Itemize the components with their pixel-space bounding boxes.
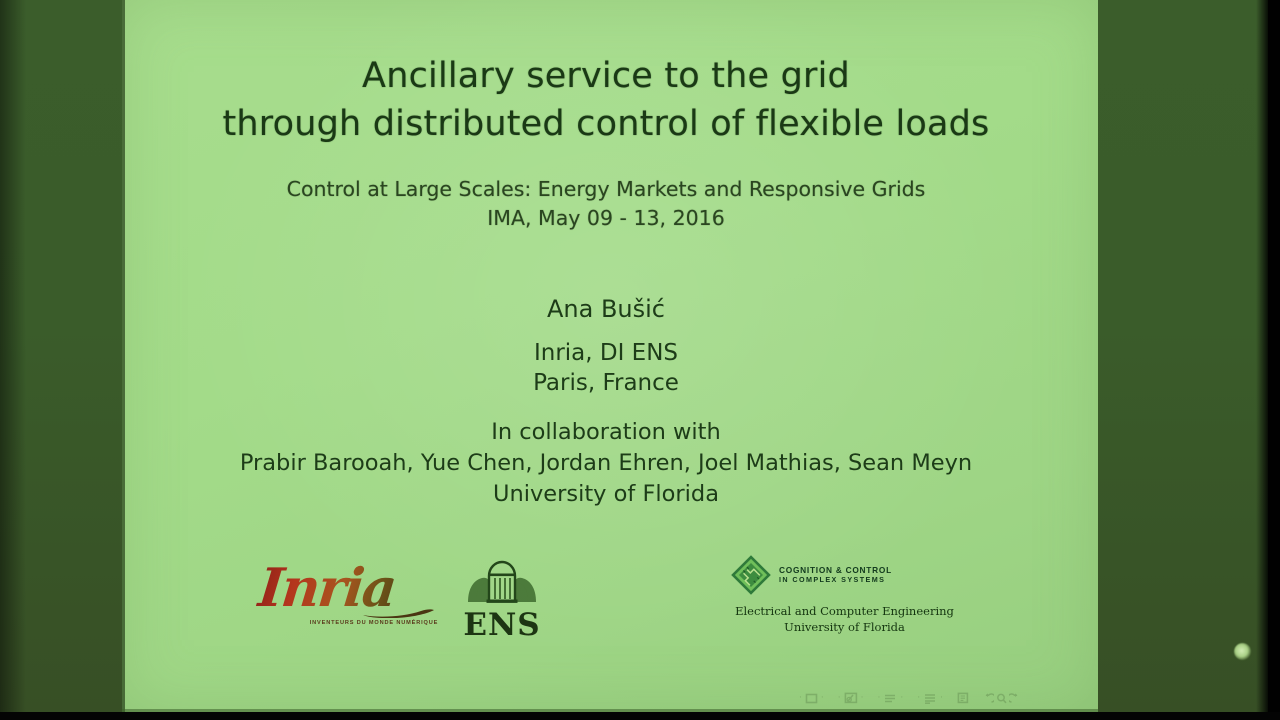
nav-next-section-dot[interactable]: · xyxy=(940,693,943,703)
frame-edge-bottom xyxy=(0,712,1280,720)
collaborator-names: Prabir Barooah, Yue Chen, Jordan Ehren, … xyxy=(122,448,1090,479)
cognition-control-line-1: COGNITION & CONTROL xyxy=(779,565,892,575)
frame-icon[interactable] xyxy=(844,692,858,704)
presentation-icon[interactable] xyxy=(957,692,969,704)
uf-university: University of Florida xyxy=(722,620,967,635)
title-line-2: through distributed control of flexible … xyxy=(122,100,1090,148)
back-icon[interactable] xyxy=(983,693,994,704)
uf-department: Electrical and Computer Engineering xyxy=(722,604,967,619)
frame-edge-right xyxy=(1268,0,1280,720)
nav-group-section[interactable]: · · xyxy=(917,693,943,704)
projector-capture-frame: Ancillary service to the grid through di… xyxy=(0,0,1280,720)
nav-group-frame[interactable]: · · xyxy=(838,692,864,704)
title-line-1: Ancillary service to the grid xyxy=(122,52,1090,100)
collaboration-block: In collaboration with Prabir Barooah, Yu… xyxy=(122,417,1090,510)
inria-logo: Inria INVENTEURS DU MONDE NUMÉRIQUE xyxy=(255,560,437,638)
subsection-icon[interactable] xyxy=(883,693,897,704)
conference-date: IMA, May 09 - 13, 2016 xyxy=(122,204,1090,233)
uf-cognition-control-logo: COGNITION & CONTROL IN COMPLEX SYSTEMS E… xyxy=(722,554,967,650)
nav-prev-section-dot[interactable]: · xyxy=(917,693,920,703)
beamer-navigation-symbols[interactable]: · · · · · xyxy=(799,692,1020,704)
inria-swash-icon xyxy=(363,608,435,618)
nav-prev-subsection-dot[interactable]: · xyxy=(878,693,881,703)
ens-logo: ENS xyxy=(462,558,542,642)
nav-next-subsection-dot[interactable]: · xyxy=(900,693,903,703)
nav-prev-dot[interactable]: · xyxy=(799,693,802,703)
affiliation-block: Inria, DI ENS Paris, France xyxy=(122,338,1090,398)
section-icon[interactable] xyxy=(923,693,937,704)
slide-body: Ancillary service to the grid through di… xyxy=(122,0,1098,712)
conference-info: Control at Large Scales: Energy Markets … xyxy=(122,175,1090,233)
forward-icon[interactable] xyxy=(1009,693,1020,704)
nav-group-back-find-forward[interactable] xyxy=(983,693,1020,704)
led-reflection-spot xyxy=(1234,643,1251,660)
cognition-control-wordmark: COGNITION & CONTROL IN COMPLEX SYSTEMS xyxy=(779,565,892,585)
nav-next-frame-dot[interactable]: · xyxy=(861,693,864,703)
presentation-slide: Ancillary service to the grid through di… xyxy=(122,0,1098,712)
ens-wordmark: ENS xyxy=(462,608,542,642)
nav-group-slide[interactable]: · · xyxy=(799,693,824,704)
author-block: Ana Bušić xyxy=(122,293,1090,325)
nav-prev-frame-dot[interactable]: · xyxy=(838,693,841,703)
author-name: Ana Bušić xyxy=(122,293,1090,325)
collaborator-institution: University of Florida xyxy=(122,479,1090,510)
slide-title: Ancillary service to the grid through di… xyxy=(122,52,1090,148)
wall-left xyxy=(0,0,124,712)
collaboration-heading: In collaboration with xyxy=(122,417,1090,448)
uf-logo-top-row: COGNITION & CONTROL IN COMPLEX SYSTEMS xyxy=(722,554,967,596)
cognition-control-line-2: IN COMPLEX SYSTEMS xyxy=(779,575,892,585)
wall-right xyxy=(1098,0,1268,712)
search-icon[interactable] xyxy=(996,693,1007,704)
affiliation-line-1: Inria, DI ENS xyxy=(122,338,1090,368)
logo-strip: Inria INVENTEURS DU MONDE NUMÉRIQUE xyxy=(122,554,1098,654)
conference-name: Control at Large Scales: Energy Markets … xyxy=(122,175,1090,204)
inria-tagline: INVENTEURS DU MONDE NUMÉRIQUE xyxy=(299,620,449,626)
nav-next-dot[interactable]: · xyxy=(821,693,824,703)
cognition-control-diamond-icon xyxy=(730,554,772,596)
ens-gate-icon xyxy=(462,558,542,604)
slide-icon[interactable] xyxy=(805,693,818,704)
nav-group-subsection[interactable]: · · xyxy=(878,693,904,704)
affiliation-line-2: Paris, France xyxy=(122,368,1090,398)
